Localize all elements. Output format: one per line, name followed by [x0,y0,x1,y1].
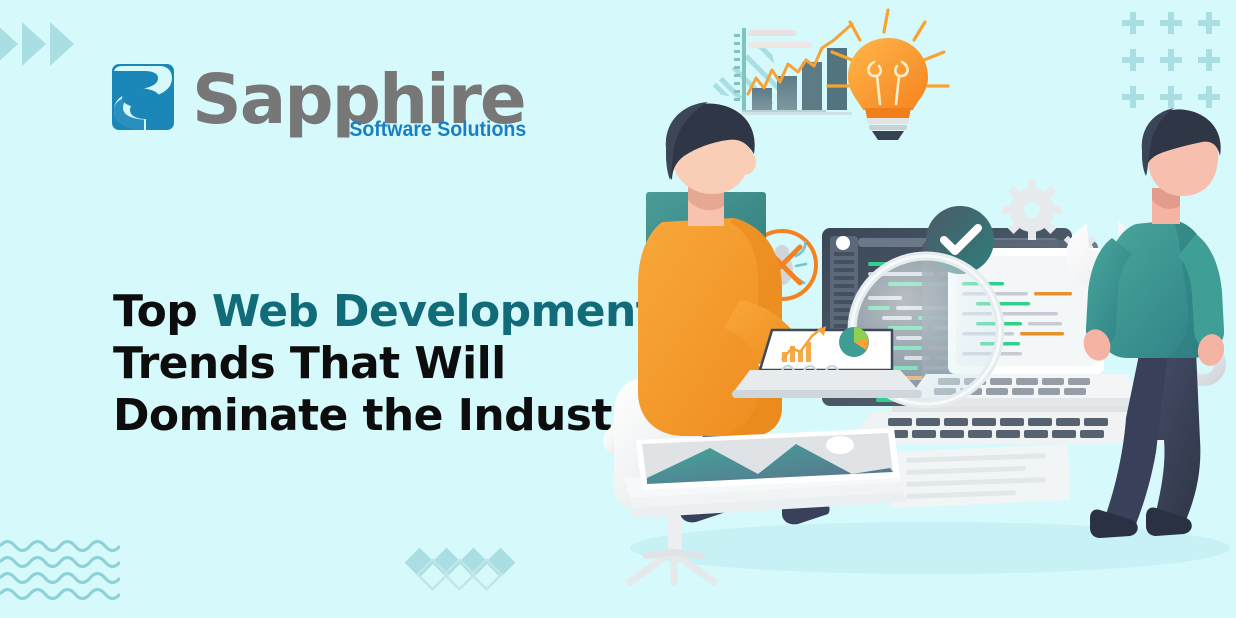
chevron-arrows-decoration [0,18,86,75]
logo[interactable]: Sapphire Software Solutions [110,62,525,140]
diamond-row-decoration [405,546,521,597]
wave-lines-decoration [0,536,120,613]
sapphire-s-monogram-icon [110,62,182,140]
headline-line-1-accent: Web Development [212,286,656,337]
logo-tagline: Software Solutions [350,118,527,142]
headline-line-1-plain: Top [113,286,212,337]
bar-chart-icon [734,24,852,115]
banner-root: Sapphire Software Solutions Top Web Deve… [0,0,1236,618]
illustration: </> [600,0,1236,618]
standing-developer-with-wrench [1066,108,1227,538]
